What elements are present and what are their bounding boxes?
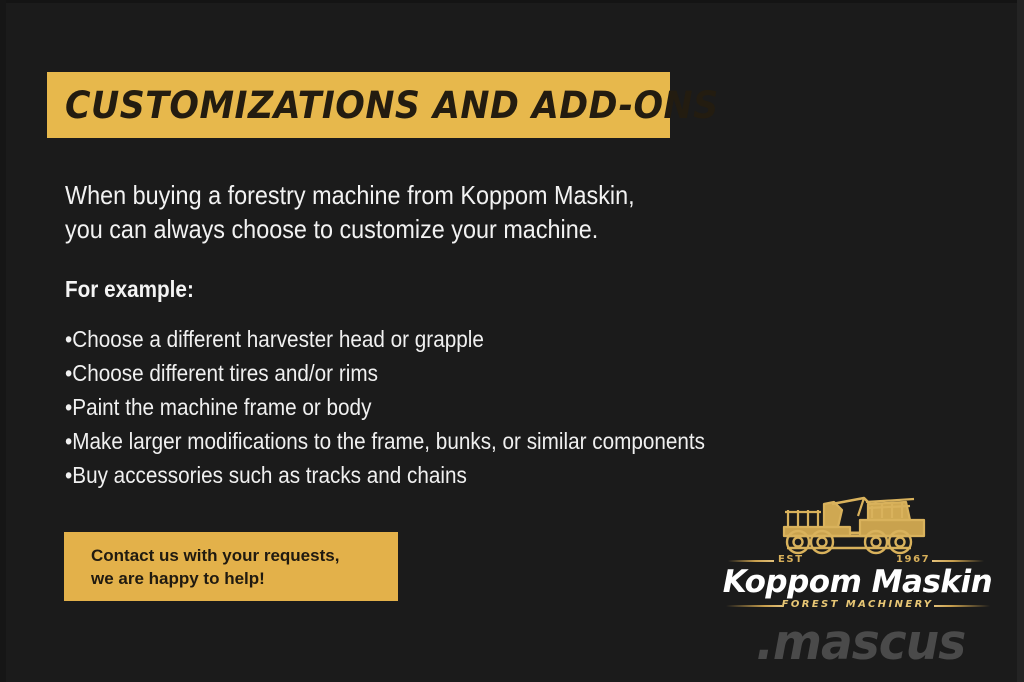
- logo-rule-right: [932, 560, 984, 562]
- list-item: •Paint the machine frame or body: [65, 390, 749, 424]
- list-item: •Choose a different harvester head or gr…: [65, 322, 749, 356]
- contact-line-1: Contact us with your requests,: [91, 544, 398, 567]
- page-title: CUSTOMIZATIONS AND ADD-ONS: [65, 84, 719, 127]
- intro-line-2: you can always choose to customize your …: [65, 212, 713, 246]
- top-edge-strip: [0, 0, 1024, 3]
- logo-tagline-rule-right: [934, 605, 990, 607]
- bullet-icon: •: [65, 360, 72, 386]
- contact-line-2: we are happy to help!: [91, 567, 398, 590]
- logo-rule-left: [728, 560, 774, 562]
- list-item: •Buy accessories such as tracks and chai…: [65, 458, 749, 492]
- koppom-maskin-logo: EST 1967 Koppom Maskin FOREST MACHINERY: [720, 496, 995, 614]
- promo-slide: CUSTOMIZATIONS AND ADD-ONS When buying a…: [0, 0, 1024, 682]
- mascus-watermark: .mascus: [756, 614, 965, 671]
- title-banner: CUSTOMIZATIONS AND ADD-ONS: [47, 72, 670, 138]
- logo-tagline-row: FOREST MACHINERY: [720, 599, 995, 613]
- customization-list: •Choose a different harvester head or gr…: [65, 322, 825, 492]
- intro-paragraph: When buying a forestry machine from Kopp…: [65, 178, 785, 246]
- bullet-icon: •: [65, 326, 72, 352]
- right-edge-strip: [1017, 0, 1024, 682]
- list-item-label: Paint the machine frame or body: [72, 394, 371, 420]
- bullet-icon: •: [65, 462, 72, 488]
- list-item: •Choose different tires and/or rims: [65, 356, 749, 390]
- list-item: •Make larger modifications to the frame,…: [65, 424, 749, 458]
- bullet-icon: •: [65, 394, 72, 420]
- forwarder-machine-icon: [772, 496, 942, 558]
- list-item-label: Make larger modifications to the frame, …: [72, 428, 705, 454]
- contact-cta-box[interactable]: Contact us with your requests, we are ha…: [64, 532, 398, 601]
- list-item-label: Choose a different harvester head or gra…: [72, 326, 484, 352]
- intro-line-1: When buying a forestry machine from Kopp…: [65, 178, 713, 212]
- list-item-label: Choose different tires and/or rims: [72, 360, 378, 386]
- list-item-label: Buy accessories such as tracks and chain…: [72, 462, 467, 488]
- for-example-heading: For example:: [65, 276, 194, 303]
- left-edge-strip: [0, 0, 6, 682]
- bullet-icon: •: [65, 428, 72, 454]
- logo-wordmark: Koppom Maskin: [720, 564, 995, 600]
